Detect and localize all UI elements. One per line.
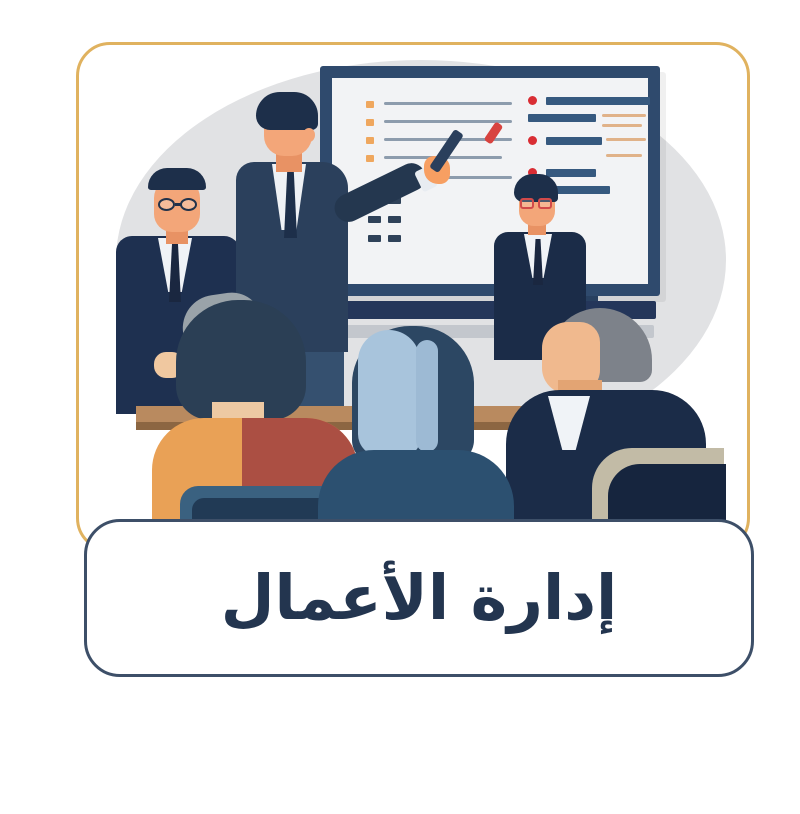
bar-item	[546, 97, 650, 105]
illustration-stage	[96, 50, 726, 540]
text-line	[606, 138, 646, 141]
presenter-ear	[303, 128, 315, 142]
text-line	[384, 120, 512, 123]
glasses-icon	[158, 198, 202, 211]
red-glasses-icon	[520, 198, 556, 209]
text-line	[602, 124, 642, 127]
grid-cell	[388, 235, 401, 242]
checkbox-icon	[366, 101, 374, 108]
text-line	[384, 102, 512, 105]
checkbox-icon	[366, 155, 374, 162]
page-title: إدارة الأعمال	[221, 564, 618, 632]
bar-item	[546, 137, 602, 145]
grid-cell	[388, 216, 401, 223]
text-line	[602, 114, 646, 117]
person-left-hair	[148, 168, 206, 190]
audience-center-hair-strand	[416, 340, 438, 452]
bar-item	[528, 114, 596, 122]
bullet-dot-icon	[528, 96, 537, 105]
audience-center-hair-highlight	[358, 330, 420, 456]
grid-cell	[368, 216, 381, 223]
subject-card: إدارة الأعمال	[0, 0, 800, 814]
title-plate[interactable]: إدارة الأعمال	[84, 519, 754, 677]
presenter-hair	[256, 92, 318, 130]
bar-item	[546, 169, 596, 177]
checkbox-icon	[366, 119, 374, 126]
checkbox-icon	[366, 137, 374, 144]
text-line	[606, 154, 642, 157]
bullet-dot-icon	[528, 136, 537, 145]
checklist-row	[366, 98, 514, 112]
grid-cell	[368, 235, 381, 242]
